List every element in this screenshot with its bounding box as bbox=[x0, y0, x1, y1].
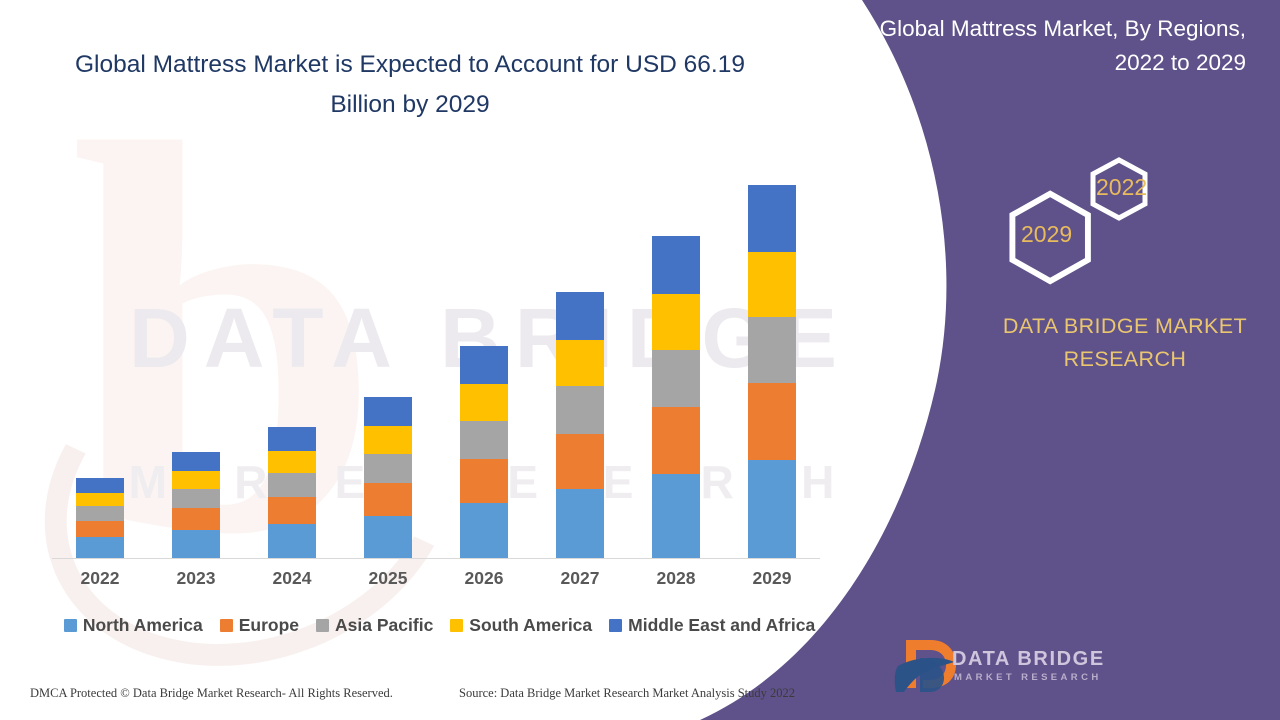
x-axis-tick-2024: 2024 bbox=[244, 568, 340, 589]
bar-segment bbox=[652, 350, 700, 408]
bar-segment bbox=[76, 506, 124, 520]
legend-label: South America bbox=[469, 615, 592, 636]
legend-item[interactable]: South America bbox=[450, 615, 592, 636]
bar-segment bbox=[652, 474, 700, 558]
bar-segment bbox=[76, 493, 124, 507]
x-axis-tick-2026: 2026 bbox=[436, 568, 532, 589]
bar-segment bbox=[460, 384, 508, 420]
bar-segment bbox=[364, 454, 412, 483]
bar-segment bbox=[748, 383, 796, 460]
legend-label: Middle East and Africa bbox=[628, 615, 815, 636]
legend-label: North America bbox=[83, 615, 203, 636]
bar-column-2022 bbox=[52, 150, 148, 558]
panel-brand-name: DATA BRIDGE MARKET RESEARCH bbox=[975, 310, 1275, 376]
bar-segment bbox=[460, 346, 508, 384]
chart-axis-line bbox=[52, 558, 820, 559]
bar-segment bbox=[748, 317, 796, 384]
stacked-bar bbox=[556, 292, 604, 558]
legend-label: Europe bbox=[239, 615, 299, 636]
legend-item[interactable]: North America bbox=[64, 615, 203, 636]
bar-column-2027 bbox=[532, 150, 628, 558]
legend-swatch-icon bbox=[220, 619, 233, 632]
x-axis-tick-2022: 2022 bbox=[52, 568, 148, 589]
panel-heading: Global Mattress Market, By Regions, 2022… bbox=[826, 12, 1246, 80]
legend-swatch-icon bbox=[64, 619, 77, 632]
bar-segment bbox=[748, 252, 796, 316]
chart-x-axis-labels: 20222023202420252026202720282029 bbox=[52, 568, 820, 589]
bar-segment bbox=[76, 521, 124, 538]
footer-copyright: DMCA Protected © Data Bridge Market Rese… bbox=[30, 686, 393, 701]
bar-segment bbox=[172, 489, 220, 508]
bar-segment bbox=[172, 508, 220, 530]
bar-segment bbox=[268, 524, 316, 558]
bar-segment bbox=[460, 459, 508, 503]
x-axis-tick-2025: 2025 bbox=[340, 568, 436, 589]
bar-segment bbox=[268, 473, 316, 497]
legend-label: Asia Pacific bbox=[335, 615, 433, 636]
infographic-root: b DATA BRIDGE MARKET RESEARCH Global Mat… bbox=[0, 0, 1280, 720]
footer-source: Source: Data Bridge Market Research Mark… bbox=[459, 686, 795, 701]
stacked-bar bbox=[748, 185, 796, 558]
bar-column-2023 bbox=[148, 150, 244, 558]
bar-segment bbox=[268, 427, 316, 451]
bar-segment bbox=[652, 407, 700, 474]
legend-item[interactable]: Middle East and Africa bbox=[609, 615, 815, 636]
bar-column-2026 bbox=[436, 150, 532, 558]
bar-segment bbox=[172, 530, 220, 558]
x-axis-tick-2029: 2029 bbox=[724, 568, 820, 589]
stacked-bar bbox=[364, 397, 412, 558]
bar-segment bbox=[556, 292, 604, 340]
bar-column-2028 bbox=[628, 150, 724, 558]
bar-segment bbox=[652, 236, 700, 294]
hexagon-2022-label: 2022 bbox=[1096, 174, 1147, 201]
bar-segment bbox=[364, 483, 412, 516]
bar-segment bbox=[556, 434, 604, 489]
bar-segment bbox=[172, 471, 220, 489]
logo-text-primary: DATA BRIDGE bbox=[952, 648, 1105, 671]
bar-segment bbox=[556, 340, 604, 386]
bar-column-2024 bbox=[244, 150, 340, 558]
bar-segment bbox=[268, 451, 316, 474]
stacked-bar-chart bbox=[52, 150, 820, 558]
hexagon-2029-label: 2029 bbox=[1021, 221, 1072, 248]
bar-segment bbox=[364, 516, 412, 558]
stacked-bar bbox=[172, 452, 220, 558]
stacked-bar bbox=[268, 427, 316, 558]
legend-item[interactable]: Europe bbox=[220, 615, 299, 636]
x-axis-tick-2023: 2023 bbox=[148, 568, 244, 589]
bar-segment bbox=[364, 426, 412, 454]
bar-segment bbox=[460, 503, 508, 558]
chart-legend: North AmericaEuropeAsia PacificSouth Ame… bbox=[52, 615, 827, 636]
legend-swatch-icon bbox=[450, 619, 463, 632]
bar-column-2025 bbox=[340, 150, 436, 558]
legend-swatch-icon bbox=[609, 619, 622, 632]
bar-segment bbox=[748, 460, 796, 558]
bar-segment bbox=[460, 421, 508, 459]
bar-segment bbox=[556, 489, 604, 558]
stacked-bar bbox=[460, 346, 508, 558]
bar-segment bbox=[748, 185, 796, 252]
logo-text-secondary: MARKET RESEARCH bbox=[954, 672, 1102, 683]
bar-segment bbox=[76, 537, 124, 558]
stacked-bar bbox=[652, 236, 700, 558]
x-axis-tick-2028: 2028 bbox=[628, 568, 724, 589]
hexagon-badges bbox=[985, 150, 1185, 295]
bar-segment bbox=[556, 386, 604, 434]
stacked-bar bbox=[76, 478, 124, 558]
bar-segment bbox=[268, 497, 316, 524]
bar-segment bbox=[76, 478, 124, 492]
bar-segment bbox=[652, 294, 700, 349]
x-axis-tick-2027: 2027 bbox=[532, 568, 628, 589]
page-title: Global Mattress Market is Expected to Ac… bbox=[60, 45, 760, 125]
bar-segment bbox=[364, 397, 412, 426]
legend-swatch-icon bbox=[316, 619, 329, 632]
legend-item[interactable]: Asia Pacific bbox=[316, 615, 433, 636]
bar-column-2029 bbox=[724, 150, 820, 558]
bar-segment bbox=[172, 452, 220, 471]
